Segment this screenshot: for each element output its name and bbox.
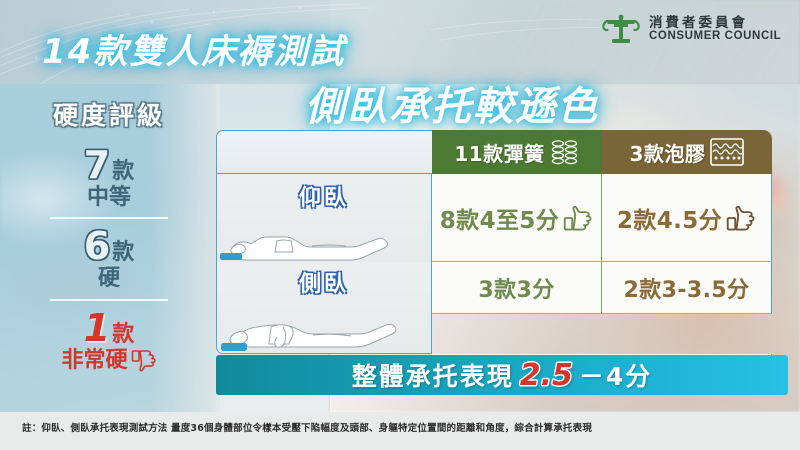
sidebar-unit-very-firm: 款 [112, 316, 134, 348]
table-header-blank [216, 130, 432, 174]
summary-highlight-score: 2.5 [520, 358, 573, 393]
sidebar-count-firm: 6 [84, 227, 110, 265]
thumbs-up-icon [563, 203, 593, 233]
sidebar-label-very-firm: 非常硬 [61, 348, 127, 373]
sidebar-divider-1 [50, 217, 168, 219]
table-row: 仰臥 8款4至5分 [216, 174, 772, 262]
table-cell-foam-side: 2款3-3.5分 [602, 262, 772, 314]
sidebar-label-firm: 硬 [14, 266, 204, 291]
logo-name-cn: 消費者委員會 [649, 16, 781, 30]
thumbs-up-icon [726, 203, 756, 233]
sidebar-item-very-firm: 1 款 非常硬 [14, 309, 204, 374]
sidebar-item-firm: 6 款 硬 [14, 227, 204, 291]
sidebar-unit-medium: 款 [112, 153, 134, 185]
sidebar-count-very-firm: 1 [84, 309, 110, 347]
cell-value-foam-side: 2款3-3.5分 [624, 272, 750, 304]
infographic-canvas: 消費者委員會 CONSUMER COUNCIL 14款雙人床褥測試 側臥承托較遜… [0, 0, 800, 450]
page-title-line1: 14款雙人床褥測試 [42, 24, 345, 73]
cell-value-spring-side: 3款3分 [478, 272, 554, 304]
pose-label-supine: 仰臥 [299, 180, 349, 212]
sidebar-title: 硬度評級 [14, 96, 204, 132]
table-header-foam: 3款泡膠 [602, 130, 772, 174]
sidebar-count-medium: 7 [84, 146, 110, 184]
support-performance-table: 11款彈簧 3款泡膠 [216, 130, 772, 392]
person-supine-icon [217, 212, 433, 262]
sidebar-item-medium: 7 款 中等 [14, 146, 204, 210]
table-cell-spring-side: 3款3分 [432, 262, 602, 314]
sidebar-unit-firm: 款 [112, 234, 134, 266]
summary-score-range: －4分 [579, 357, 652, 393]
overall-support-summary-bar: 整體承托表現 2.5 －4分 [216, 355, 788, 395]
cell-value-spring-supine: 8款4至5分 [440, 201, 559, 235]
table-pose-cell-side: 側臥 [216, 262, 432, 354]
table-header-foam-label: 3款泡膠 [630, 138, 706, 167]
sidebar-label-medium: 中等 [14, 185, 204, 210]
person-side-lying-icon [217, 297, 433, 353]
table-pose-cell-supine: 仰臥 [216, 174, 432, 262]
spring-coil-icon [550, 137, 580, 167]
logo-name-en: CONSUMER COUNCIL [649, 30, 781, 42]
table-header-spring-label: 11款彈簧 [454, 138, 544, 167]
footnote-text: 註：仰臥、側臥承托表現測試方法 量度36個身體部位令樣本受壓下陷幅度及頭部、身軀… [22, 420, 592, 434]
hardness-rating-sidebar: 硬度評級 7 款 中等 6 款 硬 1 款 非常硬 [14, 96, 204, 378]
cell-value-foam-supine: 2款4.5分 [617, 201, 722, 235]
table-row: 側臥 3款3分 2款3-3.5分 [216, 262, 772, 354]
sidebar-divider-2 [50, 299, 168, 301]
balance-scale-icon [600, 12, 642, 46]
table-cell-foam-supine: 2款4.5分 [602, 174, 772, 262]
page-title-line2: 側臥承托較遜色 [305, 74, 599, 132]
foam-block-icon [710, 138, 744, 166]
consumer-council-logo: 消費者委員會 CONSUMER COUNCIL [600, 12, 781, 46]
table-header-row: 11款彈簧 3款泡膠 [216, 130, 772, 174]
table-header-spring: 11款彈簧 [432, 130, 602, 174]
table-cell-spring-supine: 8款4至5分 [432, 174, 602, 262]
thumbs-down-icon [131, 348, 157, 374]
pose-label-side: 側臥 [299, 266, 349, 298]
summary-label: 整體承托表現 [352, 357, 514, 393]
